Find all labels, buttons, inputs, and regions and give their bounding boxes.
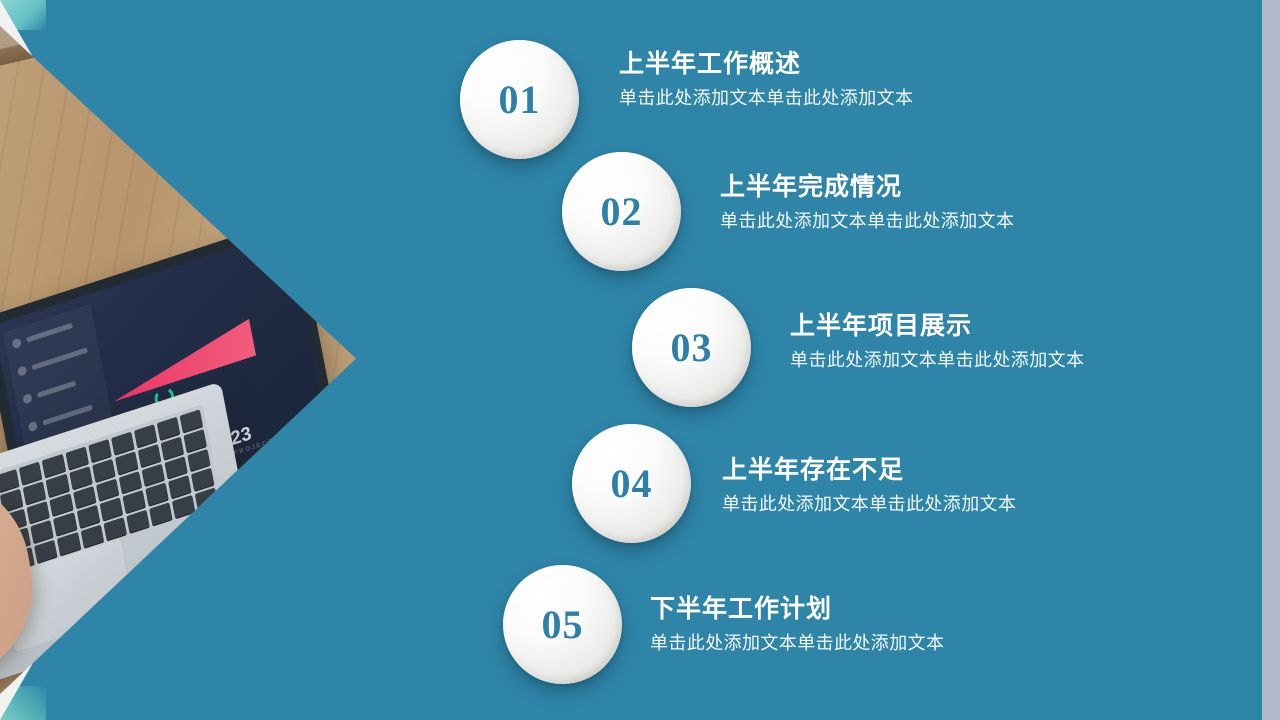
step-text-03: 上半年项目展示 单击此处添加文本单击此处添加文本 (790, 312, 1084, 372)
step-subtitle-05: 单击此处添加文本单击此处添加文本 (650, 629, 944, 655)
step-text-05: 下半年工作计划 单击此处添加文本单击此处添加文本 (650, 595, 944, 655)
step-title-05: 下半年工作计划 (650, 595, 944, 624)
step-text-02: 上半年完成情况 单击此处添加文本单击此处添加文本 (720, 173, 1014, 233)
step-text-04: 上半年存在不足 单击此处添加文本单击此处添加文本 (722, 456, 1016, 516)
slide-canvas: 2,203 POINTS 23 PROJECTS LIKED MacBook P… (0, 0, 1280, 720)
step-subtitle-04: 单击此处添加文本单击此处添加文本 (722, 490, 1016, 516)
photo-frame: 2,203 POINTS 23 PROJECTS LIKED MacBook P… (0, 26, 356, 694)
step-number-circle-04[interactable]: 04 (572, 424, 691, 543)
step-number-03: 03 (671, 324, 713, 371)
step-number-05: 05 (542, 601, 584, 648)
step-number-circle-05[interactable]: 05 (503, 565, 622, 684)
step-number-circle-02[interactable]: 02 (562, 152, 681, 271)
step-title-04: 上半年存在不足 (722, 456, 1016, 485)
right-edge-strip (1262, 0, 1280, 720)
step-subtitle-03: 单击此处添加文本单击此处添加文本 (790, 346, 1084, 372)
step-text-01: 上半年工作概述 单击此处添加文本单击此处添加文本 (619, 50, 913, 110)
step-number-02: 02 (601, 188, 643, 235)
step-title-01: 上半年工作概述 (619, 50, 913, 79)
step-number-01: 01 (499, 76, 541, 123)
step-number-circle-01[interactable]: 01 (460, 40, 579, 159)
step-subtitle-01: 单击此处添加文本单击此处添加文本 (619, 84, 913, 110)
step-number-circle-03[interactable]: 03 (632, 288, 751, 407)
step-number-04: 04 (611, 460, 653, 507)
step-title-03: 上半年项目展示 (790, 312, 1084, 341)
desk-photo: 2,203 POINTS 23 PROJECTS LIKED MacBook P… (0, 26, 356, 694)
step-subtitle-02: 单击此处添加文本单击此处添加文本 (720, 207, 1014, 233)
left-artwork: 2,203 POINTS 23 PROJECTS LIKED MacBook P… (0, 0, 420, 720)
step-title-02: 上半年完成情况 (720, 173, 1014, 202)
photo-color-tint (0, 26, 356, 694)
